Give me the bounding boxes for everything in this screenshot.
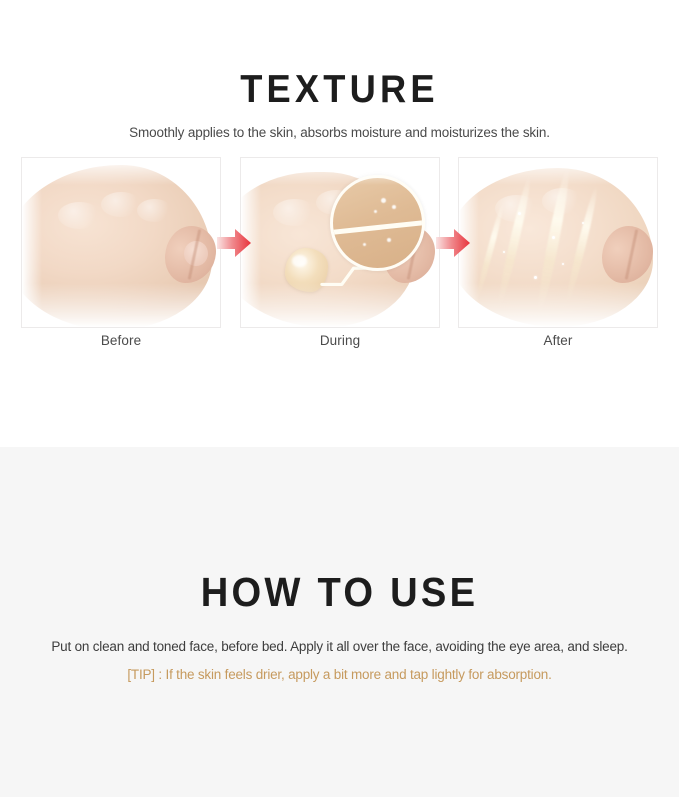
- knuckle-highlight: [58, 202, 102, 229]
- texture-section-subtitle: Smoothly applies to the skin, absorbs mo…: [0, 125, 679, 140]
- arrow-right-icon: [436, 228, 470, 258]
- texture-step-captions: Before During After: [0, 333, 679, 357]
- howto-section: HOW TO USE Put on clean and toned face, …: [0, 447, 679, 797]
- top-fade-overlay: [459, 158, 657, 185]
- howto-tip-text: [TIP] : If the skin feels drier, apply a…: [0, 667, 679, 682]
- magnifier-circle: [330, 175, 425, 271]
- caption-before: Before: [21, 333, 221, 348]
- texture-step-panels: [0, 157, 679, 332]
- sparkle: [381, 198, 386, 203]
- knuckle-highlight: [101, 192, 141, 217]
- sparkle: [374, 210, 377, 213]
- texture-section: TEXTURE Smoothly applies to the skin, ab…: [0, 0, 679, 447]
- caption-after: After: [458, 333, 658, 348]
- howto-instruction-text: Put on clean and toned face, before bed.…: [0, 639, 679, 654]
- caption-during: During: [240, 333, 440, 348]
- bottom-fade-overlay: [22, 283, 220, 327]
- texture-section-title: TEXTURE: [24, 70, 655, 109]
- top-fade-overlay: [241, 158, 439, 185]
- glitter-speck: [552, 236, 555, 239]
- arrow-right-icon: [217, 228, 251, 258]
- howto-section-title: HOW TO USE: [24, 572, 655, 613]
- sparkle: [363, 243, 366, 246]
- magnifier-band: [330, 220, 425, 235]
- bottom-fade-overlay: [241, 283, 439, 327]
- hand-illustration-during: [241, 158, 439, 327]
- bottom-fade-overlay: [459, 283, 657, 327]
- texture-step-image-before: [21, 157, 221, 328]
- texture-step-image-after: [458, 157, 658, 328]
- glitter-speck: [562, 263, 564, 265]
- hand-illustration-after: [459, 158, 657, 327]
- knuckle-highlight: [273, 199, 317, 226]
- sparkle: [387, 238, 391, 242]
- glitter-speck: [503, 251, 505, 253]
- hand-illustration-before: [22, 158, 220, 327]
- top-fade-overlay: [22, 158, 220, 185]
- sparkle: [392, 205, 396, 209]
- texture-step-image-during: [240, 157, 440, 328]
